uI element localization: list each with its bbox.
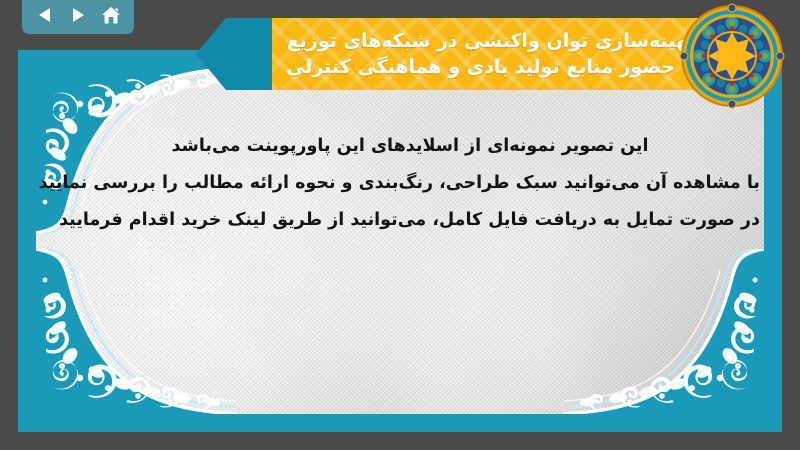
content-surface	[36, 68, 764, 414]
body-text-block: این تصویر نمونه‌ای از اسلایدهای این پاور…	[60, 128, 760, 239]
next-slide-button[interactable]	[64, 3, 92, 27]
slide-frame	[18, 50, 782, 432]
content-texture-overlay	[36, 68, 764, 414]
previous-slide-button[interactable]	[31, 3, 59, 27]
slide-root: این تصویر نمونه‌ای از اسلایدهای این پاور…	[0, 0, 800, 450]
title-banner-body: بهینه‌سازی توان واکنشی در شبکه‌های توزیع…	[272, 18, 722, 90]
body-line-3: در صورت تمایل به دریافت فایل کامل، می‌تو…	[60, 202, 760, 239]
body-line-1: این تصویر نمونه‌ای از اسلایدهای این پاور…	[60, 128, 760, 165]
triangle-right-icon	[69, 6, 87, 24]
triangle-left-icon	[36, 6, 54, 24]
banner-tail-chevron-icon	[196, 18, 272, 90]
home-icon	[101, 6, 121, 25]
slide-navigation-bar	[22, 0, 134, 34]
circular-medallion-ornament	[679, 3, 785, 109]
title-banner: بهینه‌سازی توان واکنشی در شبکه‌های توزیع…	[196, 18, 722, 90]
title-line-2: با حضور منابع تولید بادی و هماهنگی کنترل…	[286, 54, 696, 80]
body-line-2: با مشاهده آن می‌توانید سبک طراحی، رنگ‌بن…	[60, 165, 760, 202]
title-line-1: بهینه‌سازی توان واکنشی در شبکه‌های توزیع	[287, 28, 696, 54]
home-slide-button[interactable]	[97, 3, 125, 27]
